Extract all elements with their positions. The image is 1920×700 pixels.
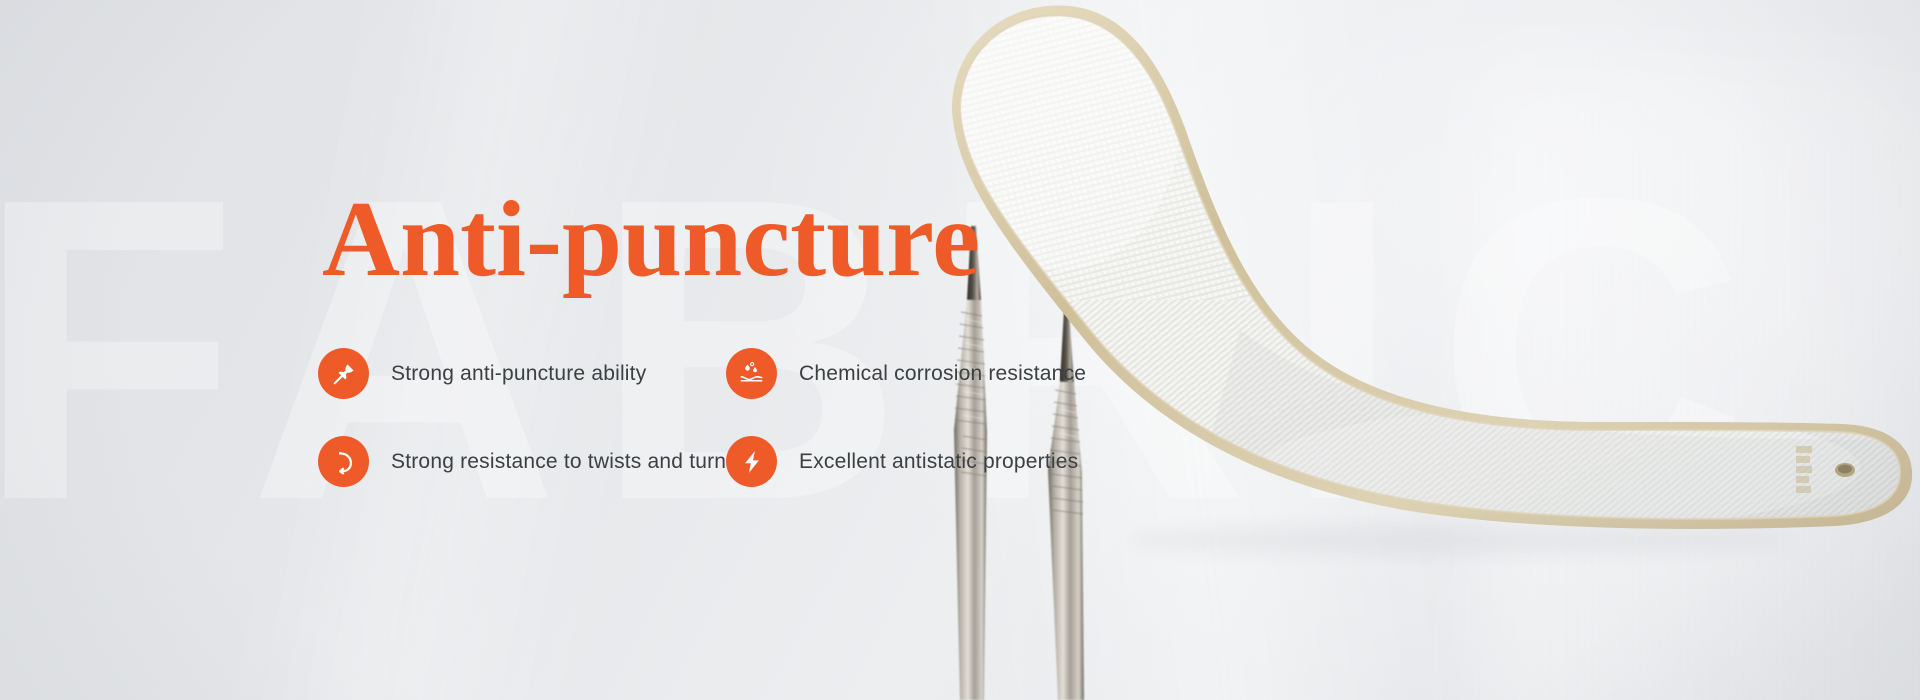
feature-label: Chemical corrosion resistance (799, 362, 1086, 386)
rotation-arrow-icon (318, 436, 369, 487)
feature-label: Strong anti-puncture ability (391, 362, 646, 386)
pushpin-icon (318, 348, 369, 399)
feature-item-anti-puncture: Strong anti-puncture ability (318, 348, 726, 399)
insole-heel-marking (1796, 446, 1812, 493)
lightning-bolt-icon (726, 436, 777, 487)
page-title: Anti-puncture (322, 186, 980, 294)
feature-list: Strong anti-puncture ability Chemical co… (318, 348, 1134, 487)
feature-label: Excellent antistatic properties (799, 450, 1078, 474)
feature-label: Strong resistance to twists and turns (391, 450, 737, 474)
insole-eyelet-hole (1835, 463, 1855, 477)
anti-puncture-banner: FABRIC (0, 0, 1920, 700)
feature-item-twist-resistance: Strong resistance to twists and turns (318, 436, 726, 487)
corrosion-droplet-icon (726, 348, 777, 399)
feature-item-antistatic: Excellent antistatic properties (726, 436, 1134, 487)
background-light-streak (1480, 60, 1920, 700)
banner-content: Anti-puncture Strong anti-puncture abili… (0, 0, 1100, 700)
feature-item-chemical-corrosion: Chemical corrosion resistance (726, 348, 1134, 399)
